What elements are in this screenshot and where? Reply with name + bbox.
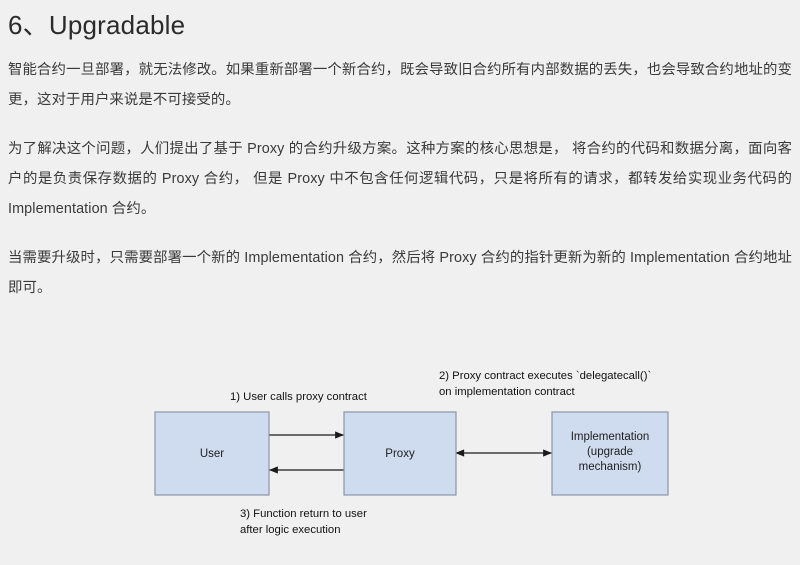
page-title: 6、Upgradable bbox=[8, 0, 792, 42]
diagram-node-implementation-line-2: (upgrade bbox=[587, 446, 633, 458]
edge-label-step-3-line-2: after logic execution bbox=[240, 524, 340, 536]
paragraph-2: 为了解决这个问题，人们提出了基于 Proxy 的合约升级方案。这种方案的核心思想… bbox=[8, 134, 792, 224]
diagram-node-user-label: User bbox=[200, 448, 224, 460]
diagram-node-implementation-line-1: Implementation bbox=[571, 431, 650, 443]
edge-label-step-3-line-1: 3) Function return to user bbox=[240, 508, 367, 520]
paragraph-1: 智能合约一旦部署，就无法修改。如果重新部署一个新合约，既会导致旧合约所有内部数据… bbox=[8, 55, 792, 115]
proxy-upgrade-diagram: 1) User calls proxy contract 2) Proxy co… bbox=[0, 352, 800, 552]
diagram-node-proxy-label: Proxy bbox=[385, 448, 415, 460]
diagram-node-implementation-line-3: mechanism) bbox=[579, 461, 642, 473]
edge-label-step-2-line-2: on implementation contract bbox=[439, 386, 575, 398]
document-page: 6、Upgradable 智能合约一旦部署，就无法修改。如果重新部署一个新合约，… bbox=[0, 0, 800, 565]
edge-label-step-2-line-1: 2) Proxy contract executes `delegatecall… bbox=[439, 370, 651, 382]
edge-label-step-1-line-1: 1) User calls proxy contract bbox=[230, 391, 368, 403]
paragraph-3: 当需要升级时，只需要部署一个新的 Implementation 合约，然后将 P… bbox=[8, 243, 792, 303]
